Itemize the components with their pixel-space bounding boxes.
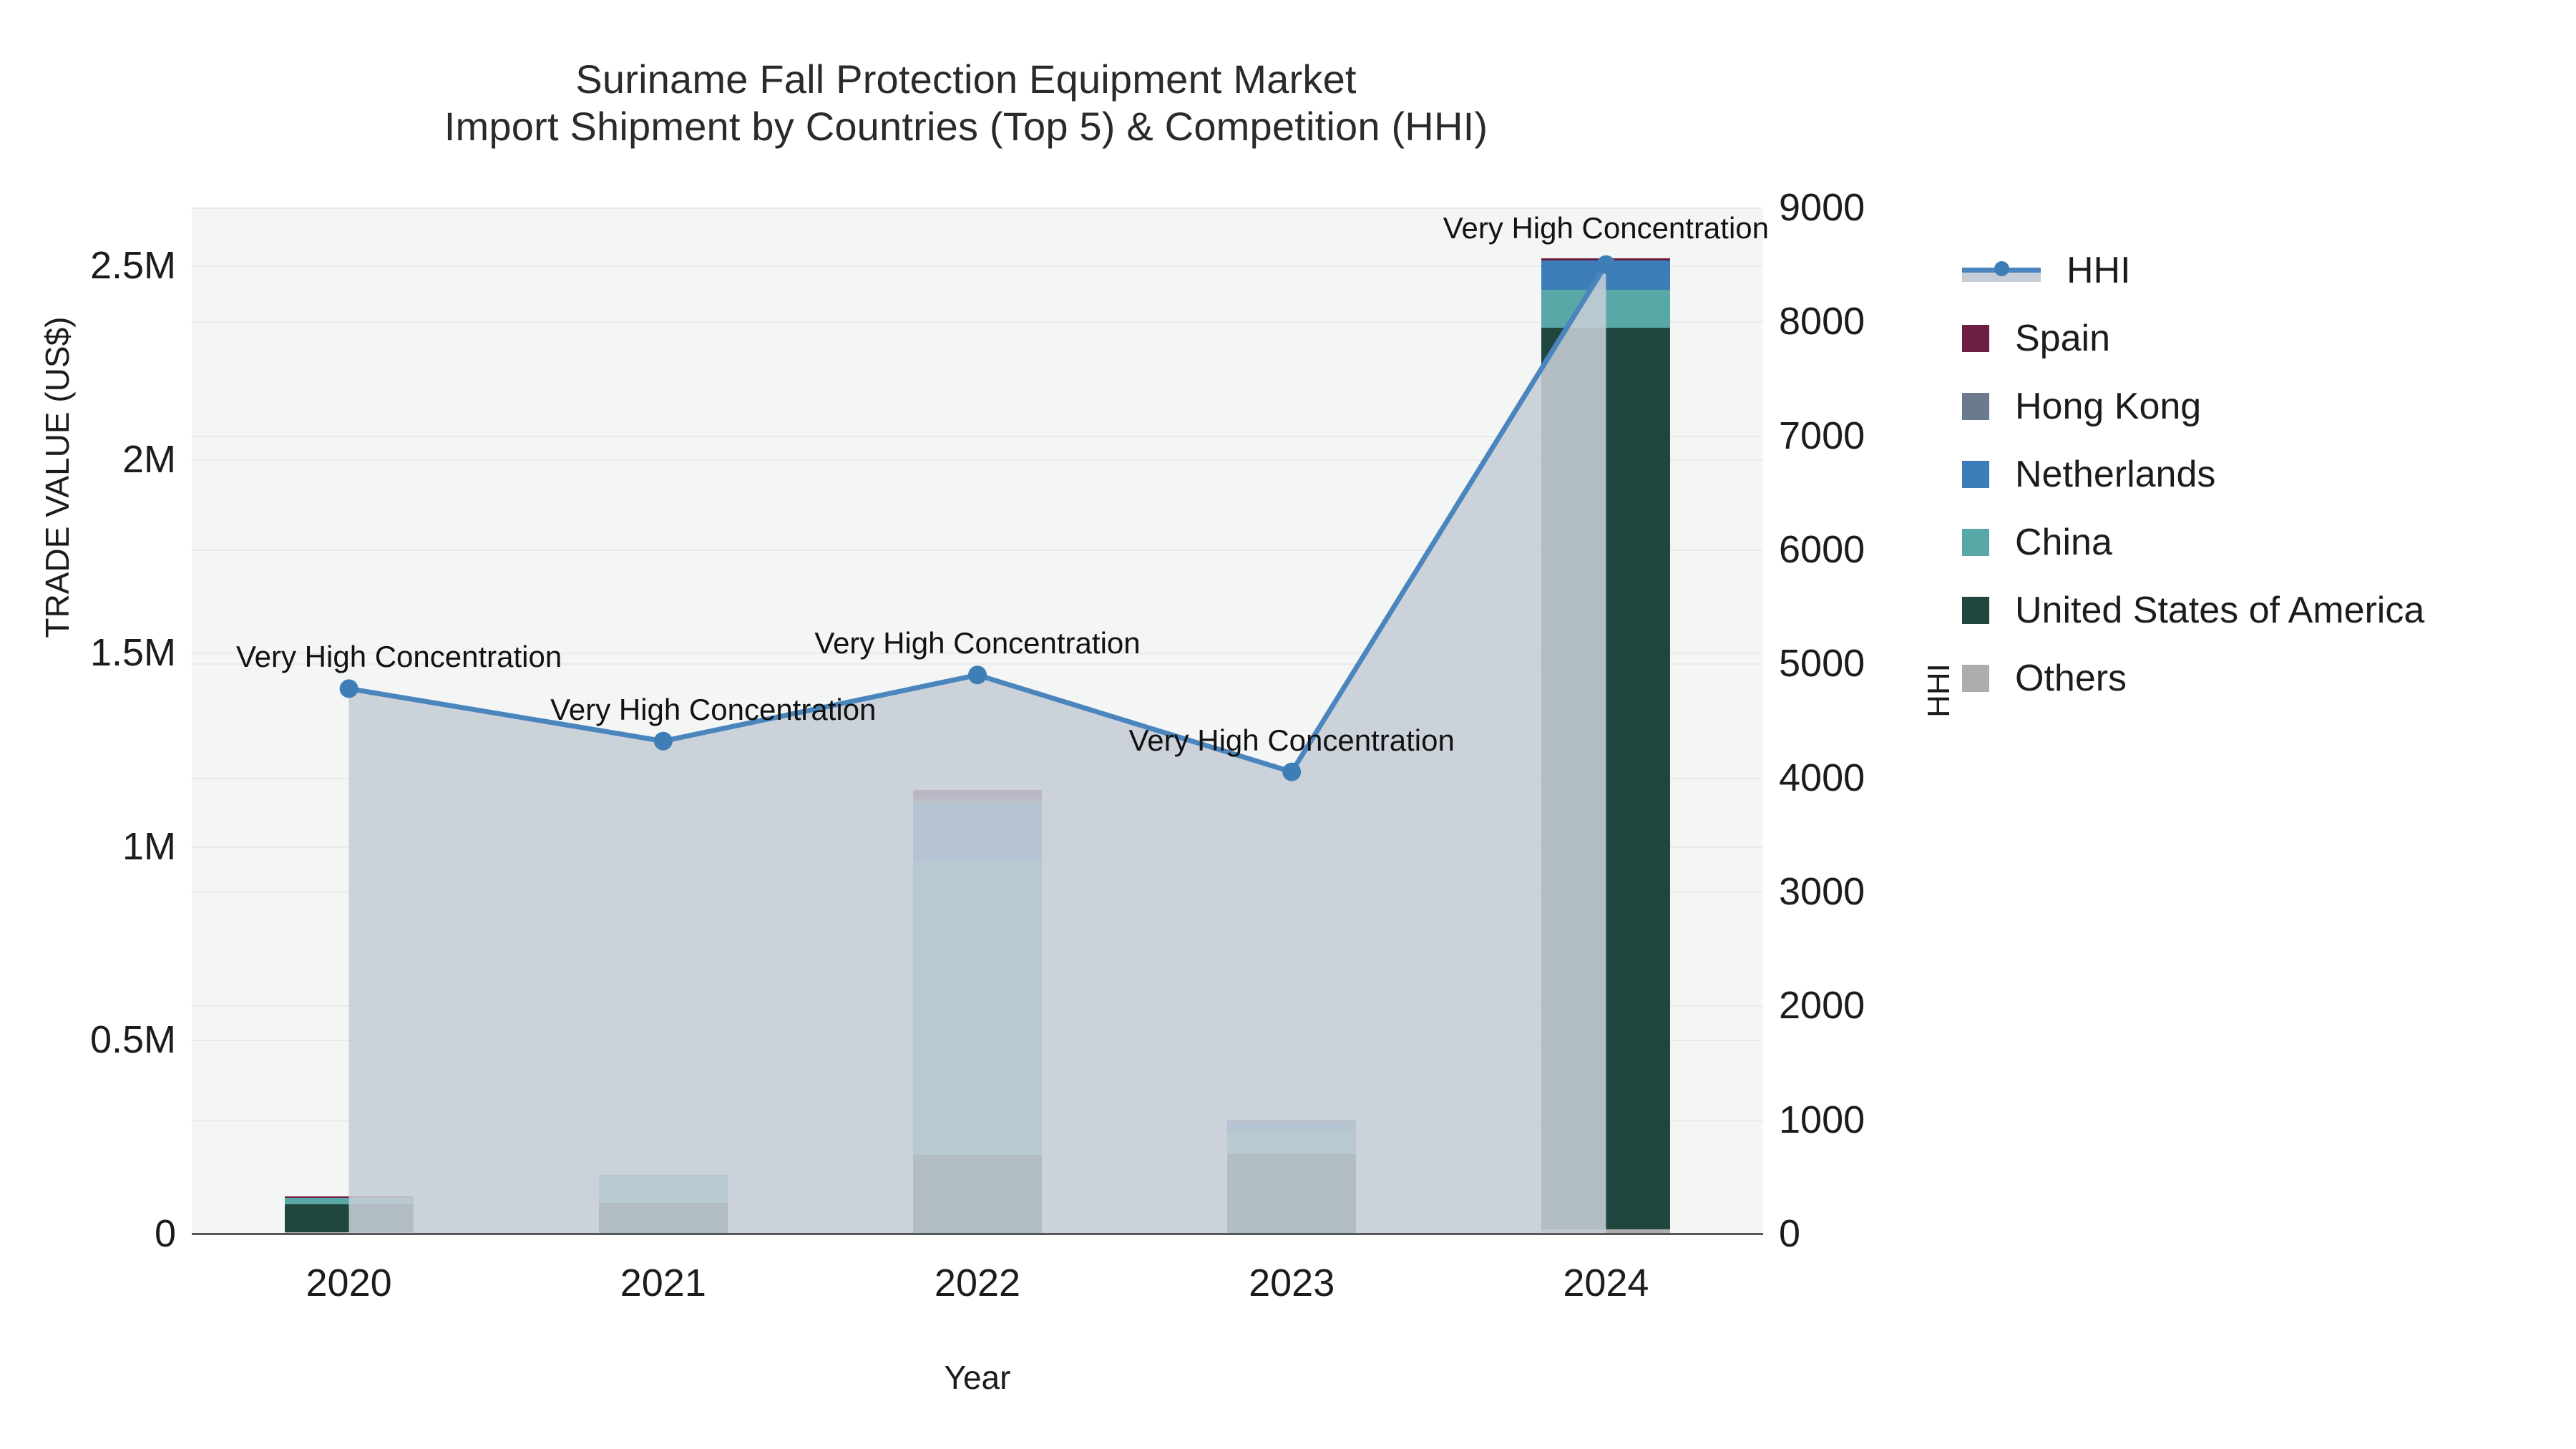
y-left-tick-0: 0 xyxy=(155,1211,176,1256)
legend-swatch-icon xyxy=(1962,529,1989,556)
y-right-tick-5000: 5000 xyxy=(1779,641,1865,686)
annotation-2020: Very High Concentration xyxy=(236,640,562,674)
hhi-point-2024[interactable] xyxy=(1596,255,1615,274)
annotation-2021: Very High Concentration xyxy=(550,693,876,727)
legend-swatch-icon xyxy=(1962,461,1989,488)
y-right-tick-1000: 1000 xyxy=(1779,1098,1865,1142)
legend-swatch-icon xyxy=(1962,665,1989,692)
x-tick-2024: 2024 xyxy=(1498,1261,1713,1305)
legend-item-hhi[interactable]: HHI xyxy=(1962,236,2556,304)
legend-item-label: Spain xyxy=(2015,320,2110,357)
legend-item-united-states-of-america[interactable]: United States of America xyxy=(1962,576,2556,644)
x-axis-title: Year xyxy=(870,1358,1085,1397)
y-left-tick-1.5M: 1.5M xyxy=(90,630,176,675)
x-tick-2020: 2020 xyxy=(242,1261,457,1305)
legend-item-china[interactable]: China xyxy=(1962,508,2556,576)
y-axis-right-title: HHI xyxy=(1921,583,1957,798)
x-tick-2022: 2022 xyxy=(870,1261,1085,1305)
x-tick-2021: 2021 xyxy=(556,1261,771,1305)
hhi-point-2021[interactable] xyxy=(654,732,673,751)
x-axis-line xyxy=(192,1233,1763,1235)
hhi-point-2023[interactable] xyxy=(1282,763,1301,781)
legend-swatch-icon xyxy=(1962,325,1989,352)
chart-root: Suriname Fall Protection Equipment Marke… xyxy=(0,0,2576,1449)
legend-swatch-icon xyxy=(1962,597,1989,624)
legend-item-netherlands[interactable]: Netherlands xyxy=(1962,440,2556,508)
chart-title: Suriname Fall Protection Equipment Marke… xyxy=(0,56,1932,150)
legend: HHISpainHong KongNetherlandsChinaUnited … xyxy=(1962,236,2556,712)
annotation-2024: Very High Concentration xyxy=(1443,211,1769,245)
legend-item-label: United States of America xyxy=(2015,592,2424,629)
y-right-tick-2000: 2000 xyxy=(1779,983,1865,1028)
legend-item-hong-kong[interactable]: Hong Kong xyxy=(1962,372,2556,440)
y-left-tick-2.5M: 2.5M xyxy=(90,243,176,288)
legend-swatch-icon xyxy=(1962,393,1989,420)
chart-title-line-1: Suriname Fall Protection Equipment Marke… xyxy=(0,56,1932,103)
plot-inner xyxy=(192,208,1763,1234)
plot-area xyxy=(192,208,1763,1234)
annotation-2022: Very High Concentration xyxy=(814,626,1140,660)
legend-item-label: China xyxy=(2015,524,2112,561)
y-right-tick-3000: 3000 xyxy=(1779,869,1865,914)
legend-item-spain[interactable]: Spain xyxy=(1962,304,2556,372)
x-tick-2023: 2023 xyxy=(1184,1261,1399,1305)
legend-item-others[interactable]: Others xyxy=(1962,644,2556,712)
y-right-tick-8000: 8000 xyxy=(1779,299,1865,343)
y-left-tick-2M: 2M xyxy=(122,437,176,482)
y-right-tick-0: 0 xyxy=(1779,1211,1800,1256)
annotation-2023: Very High Concentration xyxy=(1129,723,1455,758)
y-axis-left-title: TRADE VALUE (US$) xyxy=(38,205,77,749)
legend-item-label: Netherlands xyxy=(2015,456,2215,493)
legend-line-marker-icon xyxy=(1962,257,2041,284)
y-right-tick-4000: 4000 xyxy=(1779,756,1865,800)
legend-item-label: Others xyxy=(2015,660,2127,697)
y-left-tick-1M: 1M xyxy=(122,824,176,869)
legend-line-dot-icon xyxy=(1994,261,2009,276)
hhi-point-2022[interactable] xyxy=(968,665,987,684)
y-right-tick-7000: 7000 xyxy=(1779,414,1865,458)
legend-item-label: Hong Kong xyxy=(2015,388,2201,425)
hhi-point-2020[interactable] xyxy=(340,679,358,698)
chart-title-line-2: Import Shipment by Countries (Top 5) & C… xyxy=(0,103,1932,150)
y-axis-left-ticks: 00.5M1M1.5M2M2.5M xyxy=(0,0,177,1449)
hhi-line-layer xyxy=(192,208,1763,1234)
y-right-tick-9000: 9000 xyxy=(1779,185,1865,230)
y-left-tick-0.5M: 0.5M xyxy=(90,1018,176,1062)
y-right-tick-6000: 6000 xyxy=(1779,527,1865,572)
legend-item-label: HHI xyxy=(2067,252,2131,289)
